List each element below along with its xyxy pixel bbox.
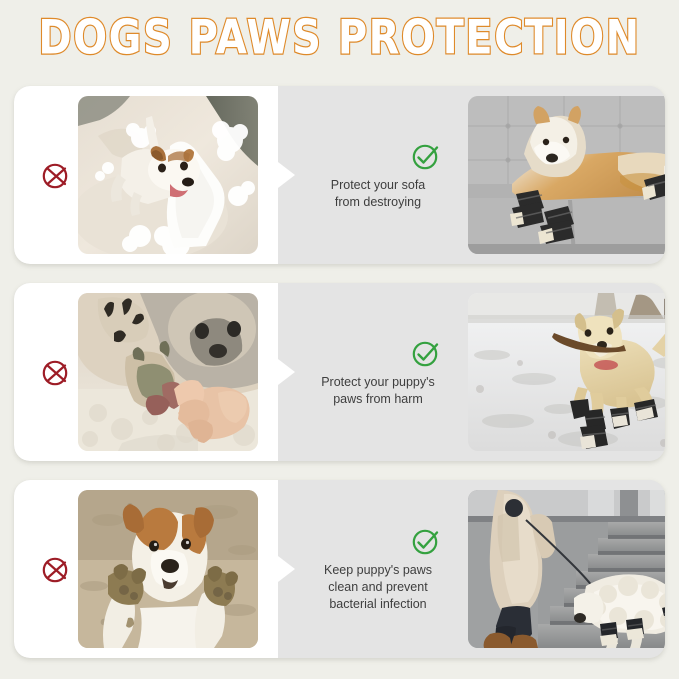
caption-text: Protect your puppy's paws from harm [302, 374, 454, 408]
problem-photo-injured-paw [78, 293, 258, 451]
cross-circle-icon [40, 553, 72, 585]
check-circle-icon [410, 337, 442, 369]
solution-photo-akita-sofa [468, 96, 665, 254]
caption-block: Protect your puppy's paws from harm [302, 337, 454, 408]
solution-photo-labrador-snow [468, 293, 665, 451]
arrow-right-icon [278, 359, 295, 385]
arrow-right-icon [278, 162, 295, 188]
benefit-panel-sofa: Protect your sofa from destroying [14, 86, 665, 264]
benefit-panel-paws-harm: Protect your puppy's paws from harm [14, 283, 665, 461]
cross-circle-icon [40, 159, 72, 191]
caption-text: Keep puppy's paws clean and prevent bact… [302, 562, 454, 613]
benefit-panel-clean-paws: Keep puppy's paws clean and prevent bact… [14, 480, 665, 658]
problem-zone [14, 480, 278, 658]
solution-zone: Keep puppy's paws clean and prevent bact… [278, 480, 665, 658]
problem-zone [14, 283, 278, 461]
cross-circle-icon [40, 356, 72, 388]
problem-photo-muddy-paws [78, 490, 258, 648]
check-circle-icon [410, 525, 442, 557]
caption-block: Keep puppy's paws clean and prevent bact… [302, 525, 454, 613]
page-title: DOGS PAWS PROTECTION [38, 11, 640, 65]
header: DOGS PAWS PROTECTION [0, 0, 679, 76]
problem-zone [14, 86, 278, 264]
solution-zone: Protect your sofa from destroying [278, 86, 665, 264]
caption-text: Protect your sofa from destroying [302, 177, 454, 211]
arrow-right-icon [278, 556, 295, 582]
caption-block: Protect your sofa from destroying [302, 140, 454, 211]
check-circle-icon [410, 140, 442, 172]
problem-photo-shredded-pillow [78, 96, 258, 254]
solution-photo-stairs-walk [468, 490, 665, 648]
solution-zone: Protect your puppy's paws from harm [278, 283, 665, 461]
